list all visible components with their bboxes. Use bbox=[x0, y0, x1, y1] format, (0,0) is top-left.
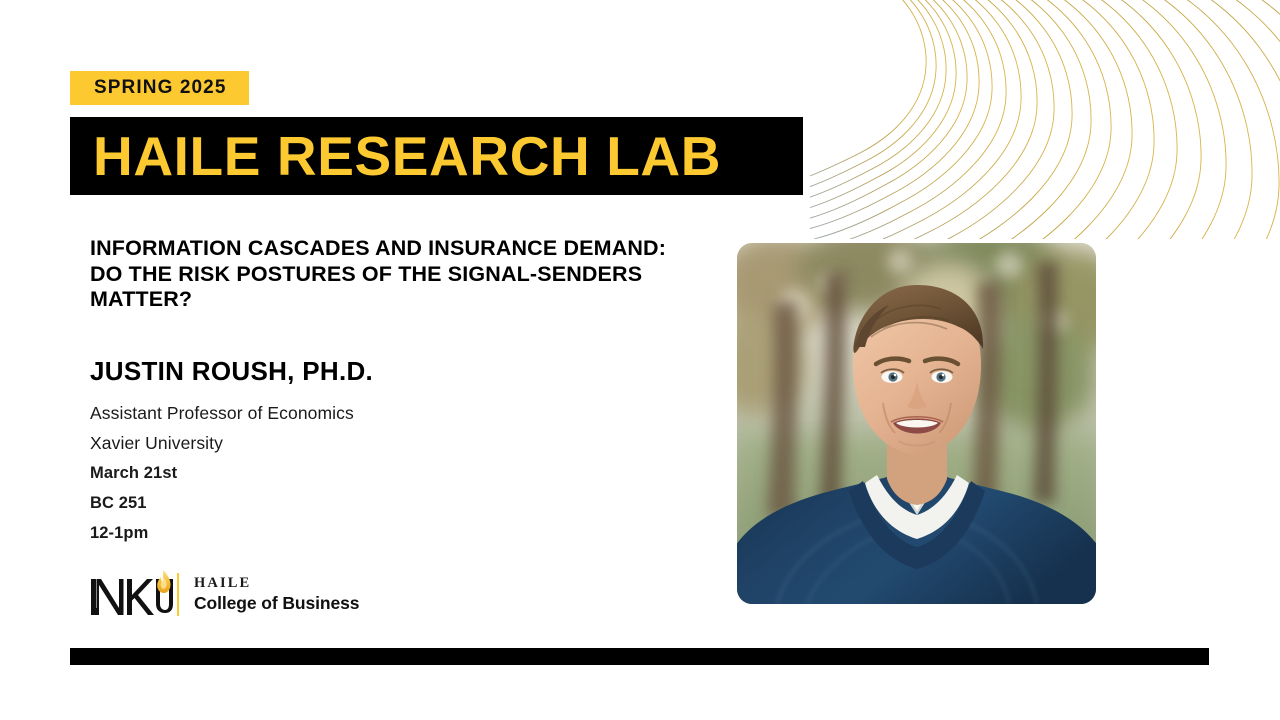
nku-haile-logo: HAILE College of Business bbox=[89, 566, 359, 622]
college-name-line2: College of Business bbox=[194, 595, 359, 613]
series-title-bar: HAILE RESEARCH LAB bbox=[70, 117, 803, 195]
event-date: March 21st bbox=[90, 458, 690, 488]
contour-line-decoration bbox=[810, 0, 1280, 239]
series-title: HAILE RESEARCH LAB bbox=[93, 129, 721, 184]
footer-bar bbox=[70, 648, 1209, 665]
logo-divider bbox=[177, 573, 179, 616]
nku-wordmark-icon bbox=[89, 568, 173, 620]
speaker-position: Assistant Professor of Economics bbox=[90, 398, 690, 428]
event-time: 12-1pm bbox=[90, 518, 690, 548]
research-title: INFORMATION CASCADES AND INSURANCE DEMAN… bbox=[90, 236, 690, 313]
speaker-headshot bbox=[737, 243, 1096, 604]
college-wordmark: HAILE College of Business bbox=[194, 576, 359, 613]
speaker-details: JUSTIN ROUSH, PH.D. Assistant Professor … bbox=[90, 358, 690, 548]
event-location: BC 251 bbox=[90, 488, 690, 518]
seminar-flyer: SPRING 2025 HAILE RESEARCH LAB INFORMATI… bbox=[0, 0, 1280, 720]
college-name-line1: HAILE bbox=[194, 576, 359, 591]
speaker-name: JUSTIN ROUSH, PH.D. bbox=[90, 358, 690, 384]
speaker-affiliation: Xavier University bbox=[90, 428, 690, 458]
season-badge: SPRING 2025 bbox=[70, 71, 249, 105]
